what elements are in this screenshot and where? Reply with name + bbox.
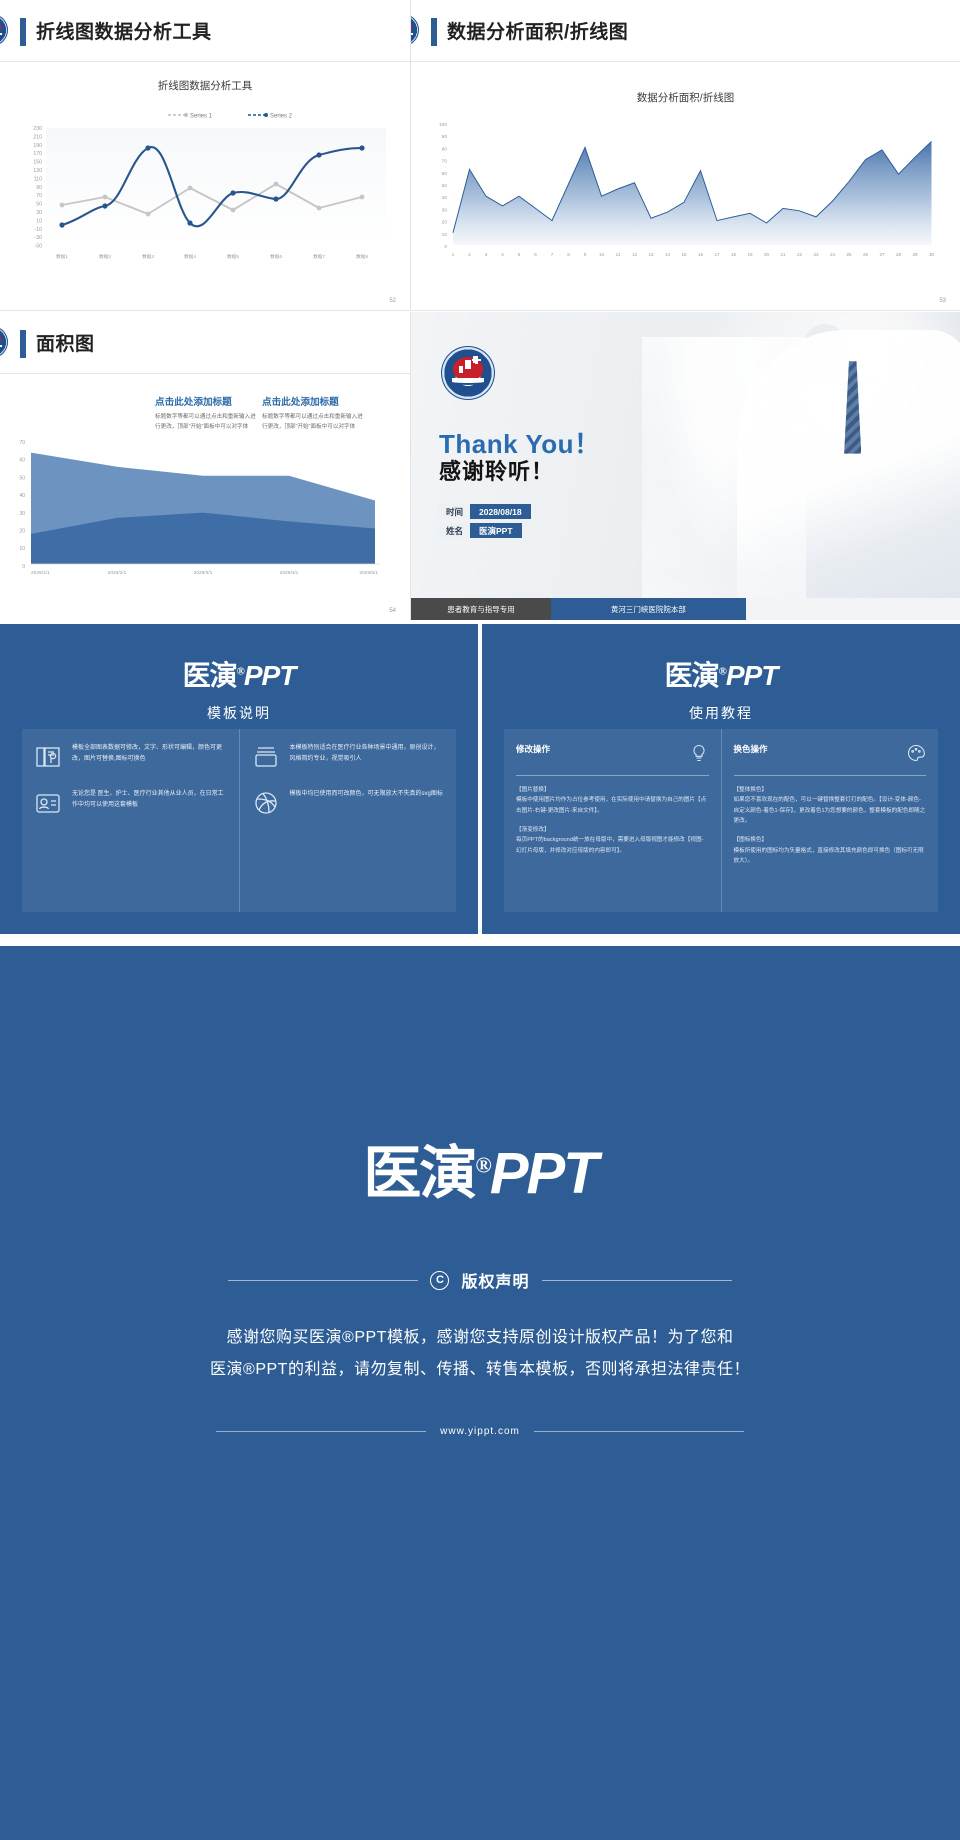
svg-text:数据8: 数据8 <box>356 253 368 260</box>
copyright-paragraph: 感谢您购买医演®PPT模板，感谢您支持原创设计版权产品！为了您和 医演®PPT的… <box>0 1322 960 1386</box>
skeleton-overlay <box>642 337 807 608</box>
svg-text:数据1: 数据1 <box>56 253 68 260</box>
slide-53-header: 数据分析面积/折线图 <box>411 0 960 62</box>
svg-text:20: 20 <box>19 529 25 535</box>
slide-52-header: 折线图数据分析工具 <box>0 0 410 62</box>
registered-mark: ® <box>475 1153 489 1178</box>
copyright-heading-row: C 版权声明 <box>0 1268 960 1292</box>
svg-text:0: 0 <box>22 564 25 570</box>
panel-subtitle: 使用教程 <box>482 703 960 723</box>
svg-text:30: 30 <box>929 252 935 257</box>
svg-text:30: 30 <box>442 207 448 213</box>
page-number: 53 <box>939 298 946 304</box>
brand-suffix: PPT <box>244 660 295 691</box>
svg-text:60: 60 <box>19 458 25 464</box>
svg-text:90: 90 <box>36 185 42 191</box>
info-item: 模板中均已使用而可改颜色，可无限放大不失真的svg图标 <box>252 789 445 817</box>
svg-text:10: 10 <box>442 232 448 238</box>
tutorial-heading: 修改操作 <box>516 743 550 755</box>
user-id-icon <box>34 789 62 817</box>
chart-legend: Series 1 Series 2 <box>168 113 293 120</box>
divider-right <box>542 1280 732 1281</box>
svg-text:9: 9 <box>584 252 587 257</box>
svg-text:150: 150 <box>33 160 42 166</box>
title-accent-bar <box>20 18 26 46</box>
tutorial-paragraph: 【图标换色】 模板所使用的图标均为矢量格式，直接修改其填充颜色即可换色（图标可无… <box>734 835 927 866</box>
svg-text:1: 1 <box>452 252 455 257</box>
copyright-line-2: 医演®PPT的利益，请勿复制、传播、转售本模板，否则将承担法律责任！ <box>0 1354 960 1386</box>
svg-text:2029/3/1: 2029/3/1 <box>194 570 213 576</box>
svg-text:Series 2: Series 2 <box>270 114 293 120</box>
tutorial-heading: 换色操作 <box>734 743 768 755</box>
footer-right-text: 黄河三门峡医院院本部 <box>551 598 746 620</box>
footer-spacer <box>746 598 960 620</box>
slide-copyright: 医演®PPT C 版权声明 感谢您购买医演®PPT模板，感谢您支持原创设计版权产… <box>0 946 960 1840</box>
svg-text:90: 90 <box>442 134 448 140</box>
info-item-text: 模板中均已使用而可改颜色，可无限放大不失真的svg图标 <box>290 789 443 817</box>
page-title: 折线图数据分析工具 <box>36 17 212 44</box>
registered-mark: ® <box>719 666 726 678</box>
svg-text:8: 8 <box>567 252 570 257</box>
svg-text:29: 29 <box>912 252 918 257</box>
svg-text:0: 0 <box>444 244 447 250</box>
slide-54: 面积图 点击此处添加标题 标题数字等都可以通过点击和重新输入进行更改，顶部“开始… <box>0 312 410 620</box>
footer-left-text: 患者教育与指导专用 <box>411 598 551 620</box>
svg-text:10: 10 <box>19 546 25 552</box>
tutorial-grid: 修改操作 【图片替换】 模板中使用图片均作为占位参考使用，在实际使用中请替换为自… <box>504 729 938 912</box>
brand-name: 医演 <box>665 661 719 692</box>
name-label: 姓名 <box>439 523 470 538</box>
panel-subtitle: 模板说明 <box>0 703 478 723</box>
registered-mark: ® <box>237 666 244 678</box>
x-axis-labels: 数据1数据2数据3 数据4数据5数据6 数据7数据8 <box>56 253 368 260</box>
website-url: www.yippt.com <box>440 1426 520 1437</box>
info-item: 模板全部图表数据可修改，文字、形状可编辑，颜色可更改，图片可替换,图标可换色 <box>34 743 227 771</box>
svg-text:10: 10 <box>36 218 42 224</box>
info-column-left: 模板全部图表数据可修改，文字、形状可编辑，颜色可更改，图片可替换,图标可换色 无… <box>22 729 239 912</box>
y-axis-labels: 706050 403020 100 <box>19 440 25 570</box>
svg-text:100: 100 <box>439 122 447 128</box>
brand-logo: 医演®PPT <box>482 654 960 694</box>
slide-52: 折线图数据分析工具 折线图数据分析工具 Series 1 Series 2 <box>0 0 410 310</box>
svg-text:21: 21 <box>780 252 786 257</box>
page-number: 54 <box>389 608 396 614</box>
svg-text:2029/1/1: 2029/1/1 <box>31 570 50 576</box>
info-column-right: 本模板特别适合在医疗行业各种场景中通用，原创设计，风格简约专业，视觉吸引人 模板… <box>239 729 457 912</box>
info-item-text: 本模板特别适合在医疗行业各种场景中通用，原创设计，风格简约专业，视觉吸引人 <box>290 743 445 771</box>
svg-text:70: 70 <box>442 159 448 165</box>
svg-text:23: 23 <box>813 252 819 257</box>
svg-text:170: 170 <box>33 151 42 157</box>
svg-text:40: 40 <box>442 195 448 201</box>
divider-left <box>216 1431 426 1432</box>
svg-text:70: 70 <box>36 193 42 199</box>
slide-53: 数据分析面积/折线图 数据分析面积/折线图 1009080 706050 403… <box>410 0 960 310</box>
svg-text:30: 30 <box>19 511 25 517</box>
dribbble-icon <box>252 789 280 817</box>
svg-text:13: 13 <box>648 252 654 257</box>
svg-text:28: 28 <box>896 252 902 257</box>
area-line-chart: 1009080 706050 403020 100 123 456 789 10… <box>411 108 960 288</box>
svg-text:27: 27 <box>879 252 885 257</box>
svg-text:2029/5/1: 2029/5/1 <box>359 570 378 576</box>
brand-logo: 医演®PPT <box>0 654 478 694</box>
info-item: 无论您是 医生、护士、医疗行业其他从业人员，在日常工作中均可以使用这套模板 <box>34 789 227 817</box>
line-chart: Series 1 Series 2 230210190 170150130 11… <box>0 98 410 288</box>
divider <box>734 775 927 776</box>
divider <box>516 775 709 776</box>
text-block-1: 点击此处添加标题 标题数字等都可以通过点击和重新输入进行更改，顶部“开始”面板中… <box>155 394 259 433</box>
svg-text:数据6: 数据6 <box>270 253 282 260</box>
chart-title-line: 折线图数据分析工具 <box>0 78 410 93</box>
title-accent-bar <box>20 330 26 358</box>
svg-text:-30: -30 <box>35 235 43 241</box>
svg-text:24: 24 <box>830 252 836 257</box>
stacked-area-chart: 706050 403020 100 2029/1/1 2029/2/1 2029… <box>0 430 410 590</box>
svg-text:20: 20 <box>764 252 770 257</box>
slide-54-header: 面积图 <box>0 312 410 374</box>
copyright-icon: C <box>430 1271 449 1290</box>
svg-text:15: 15 <box>681 252 687 257</box>
svg-text:190: 190 <box>33 143 42 149</box>
svg-text:50: 50 <box>36 202 42 208</box>
tutorial-column-modify: 修改操作 【图片替换】 模板中使用图片均作为占位参考使用，在实际使用中请替换为自… <box>504 729 721 912</box>
svg-text:50: 50 <box>442 183 448 189</box>
tutorial-paragraph: 【渐变修改】 每页PPT的background统一放在母版中，需要进入母版视图才… <box>516 825 709 856</box>
svg-text:110: 110 <box>34 176 42 182</box>
panel-template-info: 医演®PPT 模板说明 模板全部图表数据可修改，文字、形状可编辑，颜色可更改，图… <box>0 624 478 934</box>
svg-text:70: 70 <box>19 440 25 446</box>
divider-left <box>228 1280 418 1281</box>
y-axis-labels: 1009080 706050 403020 100 <box>439 122 447 250</box>
svg-text:数据2: 数据2 <box>99 253 111 260</box>
website-row: www.yippt.com <box>0 1426 960 1437</box>
hospital-emblem-icon <box>410 14 419 46</box>
hospital-emblem-icon <box>0 14 8 46</box>
svg-text:230: 230 <box>33 126 42 132</box>
info-item-text: 无论您是 医生、护士、医疗行业其他从业人员，在日常工作中均可以使用这套模板 <box>72 789 227 817</box>
svg-text:25: 25 <box>846 252 852 257</box>
area-fill <box>453 141 932 245</box>
copyright-label: 版权声明 <box>461 1268 529 1292</box>
title-accent-bar <box>431 18 437 46</box>
brand-logo-large: 医演®PPT <box>0 946 960 1210</box>
svg-text:130: 130 <box>33 168 42 174</box>
svg-text:Series 1: Series 1 <box>190 114 213 120</box>
block-title: 点击此处添加标题 <box>155 394 259 408</box>
svg-text:30: 30 <box>36 210 42 216</box>
book-pages-icon <box>34 743 62 771</box>
svg-text:-10: -10 <box>35 227 43 233</box>
slide-thank-you: Thank You！ 感谢聆听！ 时间 2028/08/18 姓名 医演PPT … <box>410 312 960 620</box>
svg-text:数据3: 数据3 <box>142 253 154 260</box>
svg-text:20: 20 <box>442 220 448 226</box>
info-item: 本模板特别适合在医疗行业各种场景中通用，原创设计，风格简约专业，视觉吸引人 <box>252 743 445 771</box>
chart-title-area-line: 数据分析面积/折线图 <box>411 90 960 105</box>
hospital-emblem-icon <box>441 346 495 400</box>
thank-you-footer: 患者教育与指导专用 黄河三门峡医院院本部 <box>411 598 960 620</box>
lightbulb-icon <box>689 743 709 768</box>
svg-text:18: 18 <box>731 252 737 257</box>
svg-text:50: 50 <box>19 475 25 481</box>
date-value: 2028/08/18 <box>470 504 531 519</box>
page-number: 52 <box>389 298 396 304</box>
copyright-line-1: 感谢您购买医演®PPT模板，感谢您支持原创设计版权产品！为了您和 <box>0 1322 960 1354</box>
svg-text:22: 22 <box>797 252 803 257</box>
svg-text:-50: -50 <box>35 244 43 250</box>
date-row: 时间 2028/08/18 <box>439 504 531 519</box>
info-card-grid: 模板全部图表数据可修改，文字、形状可编辑，颜色可更改，图片可替换,图标可换色 无… <box>22 729 456 912</box>
x-axis-labels: 2029/1/1 2029/2/1 2029/3/1 2029/4/1 2029… <box>31 570 378 576</box>
svg-text:11: 11 <box>616 252 621 257</box>
page-title: 数据分析面积/折线图 <box>447 17 628 44</box>
svg-text:16: 16 <box>698 252 704 257</box>
svg-text:数据5: 数据5 <box>227 253 239 260</box>
svg-text:2029/2/1: 2029/2/1 <box>108 570 127 576</box>
hospital-emblem-icon <box>0 326 8 358</box>
svg-text:3: 3 <box>485 252 488 257</box>
slide-deck-contact-sheet: 折线图数据分析工具 折线图数据分析工具 Series 1 Series 2 <box>0 0 960 1840</box>
svg-text:2029/4/1: 2029/4/1 <box>280 570 299 576</box>
thank-you-background: Thank You！ 感谢聆听！ 时间 2028/08/18 姓名 医演PPT … <box>411 312 960 620</box>
tutorial-heading-row: 修改操作 <box>516 743 709 768</box>
tutorial-paragraph: 【图片替换】 模板中使用图片均作为占位参考使用，在实际使用中请替换为自己的图片【… <box>516 785 709 816</box>
brand-name: 医演 <box>183 661 237 692</box>
svg-text:19: 19 <box>747 252 753 257</box>
svg-text:210: 210 <box>33 134 42 140</box>
palette-icon <box>906 743 926 768</box>
date-label: 时间 <box>439 504 470 519</box>
svg-text:40: 40 <box>19 493 25 499</box>
tutorial-paragraph: 【整体换色】 如果您不喜欢现在的配色，可以一键替换整套灯打的配色。【设计-变体-… <box>734 785 927 826</box>
divider-right <box>534 1431 744 1432</box>
svg-text:2: 2 <box>468 252 471 257</box>
svg-text:数据4: 数据4 <box>184 253 196 260</box>
svg-text:14: 14 <box>665 252 671 257</box>
tutorial-column-recolor: 换色操作 【整体换色】 如果您不喜欢现在的配色，可以一键替换整套灯打的配色。【设… <box>721 729 939 912</box>
svg-text:12: 12 <box>632 252 638 257</box>
svg-text:6: 6 <box>534 252 537 257</box>
svg-text:数据7: 数据7 <box>313 253 325 260</box>
tutorial-heading-row: 换色操作 <box>734 743 927 768</box>
layers-stack-icon <box>252 743 280 771</box>
thanks-chinese: 感谢聆听！ <box>439 454 554 486</box>
svg-text:7: 7 <box>551 252 554 257</box>
x-axis-labels: 123 456 789 101112 131415 161718 192021 … <box>452 252 935 257</box>
panel-tutorial: 医演®PPT 使用教程 修改操作 【图片替换】 模板中使用图片均作为占位参考使用… <box>482 624 960 934</box>
brand-name: 医演 <box>363 1141 475 1206</box>
svg-text:4: 4 <box>501 252 504 257</box>
svg-text:17: 17 <box>714 252 720 257</box>
name-value: 医演PPT <box>470 523 522 538</box>
svg-text:10: 10 <box>599 252 605 257</box>
info-item-text: 模板全部图表数据可修改，文字、形状可编辑，颜色可更改，图片可替换,图标可换色 <box>72 743 227 771</box>
svg-text:5: 5 <box>518 252 521 257</box>
block-title: 点击此处添加标题 <box>262 394 366 408</box>
brand-suffix: PPT <box>726 660 777 691</box>
svg-text:60: 60 <box>442 171 448 177</box>
brand-suffix: PPT <box>490 1141 597 1206</box>
page-title: 面积图 <box>36 329 95 356</box>
svg-text:26: 26 <box>863 252 869 257</box>
text-block-2: 点击此处添加标题 标题数字等都可以通过点击和重新输入进行更改，顶部“开始”面板中… <box>262 394 366 433</box>
name-row: 姓名 医演PPT <box>439 523 522 538</box>
svg-text:80: 80 <box>442 146 448 152</box>
